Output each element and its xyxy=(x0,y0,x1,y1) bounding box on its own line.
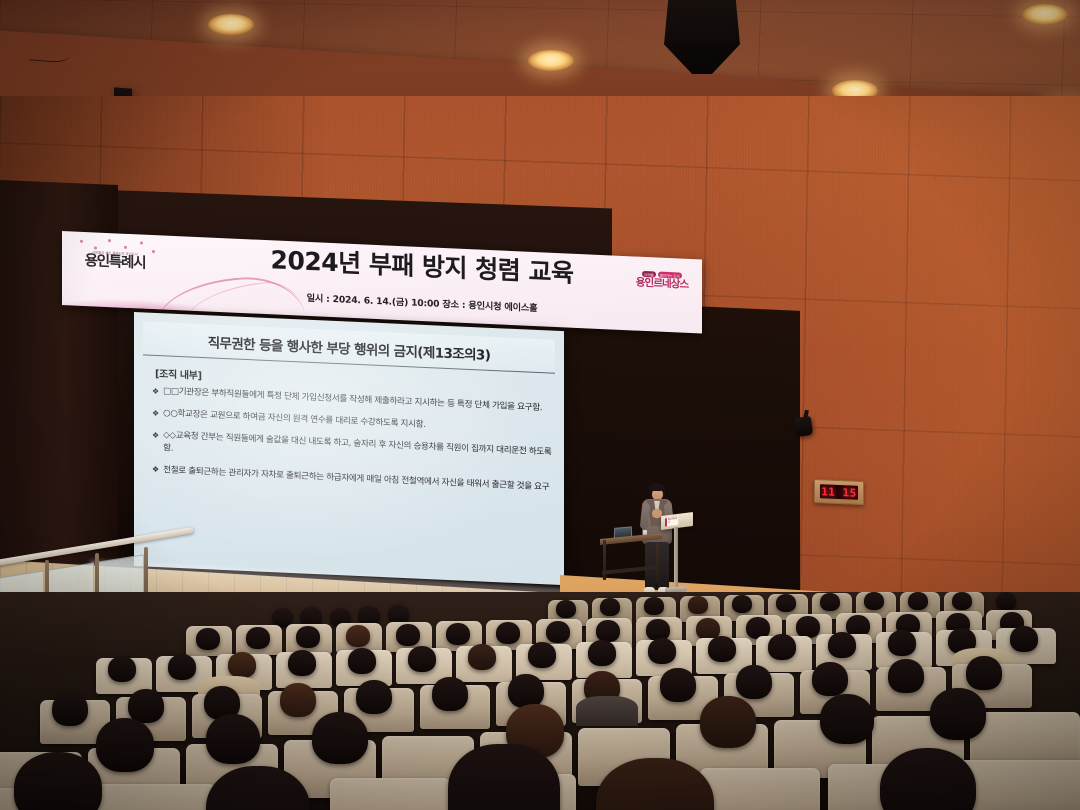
attendee-head xyxy=(396,624,420,646)
slide-bullet-text: ○○학교장은 교원으로 하여금 자신의 원격 연수를 대리로 수강하도록 지시함… xyxy=(163,407,425,431)
attendee-shoulders xyxy=(576,696,638,726)
attendee-head xyxy=(820,694,874,744)
attendee-head xyxy=(688,596,708,614)
attendee-head xyxy=(528,642,556,668)
attendee-head xyxy=(648,638,676,664)
projection-slide: 직무권한 등을 행사한 부당 행위의 금지(제13조의3) [조직 내부] ❖ … xyxy=(134,312,564,585)
attendee-head xyxy=(812,662,848,696)
attendee-head xyxy=(828,632,856,658)
city-logo-left: 사람들의 용인 특례시민 중심도시 용인특례시 xyxy=(72,247,158,271)
attendee-head xyxy=(952,592,972,610)
attendee-head xyxy=(796,616,820,638)
presenter-table xyxy=(600,528,662,586)
attendee-head xyxy=(588,640,616,666)
audience-area xyxy=(0,592,1080,810)
attendee-head xyxy=(888,630,916,656)
table-leg xyxy=(656,543,659,583)
attendee-head xyxy=(508,674,544,708)
attendee-head xyxy=(206,714,260,764)
attendee-head xyxy=(296,626,320,648)
attendee-head xyxy=(346,625,370,647)
spotlight-icon xyxy=(794,416,813,437)
attendee-head xyxy=(644,597,664,615)
slide-bullet-text: ◇◇교육청 간부는 직원들에게 술값을 대신 내도록 하고, 술자리 후 자신의… xyxy=(163,429,552,471)
attendee-head xyxy=(546,621,570,643)
city-logo-left-text: 용인특례시 xyxy=(72,253,158,271)
attendee-head xyxy=(196,628,220,650)
attendee-head xyxy=(930,688,986,740)
attendee-head xyxy=(556,600,576,618)
wall-clock: 11 15 xyxy=(814,479,864,505)
seat xyxy=(700,768,820,810)
presenter-hair xyxy=(649,483,665,491)
attendee-head xyxy=(966,656,1002,690)
attendee-head xyxy=(108,656,136,682)
attendee-head xyxy=(280,683,316,717)
city-logo-right: 미래를 열어가는 도시 용인르네상스 xyxy=(628,270,696,291)
city-logo-right-text: 용인르네상스 xyxy=(628,277,696,291)
bullet-marker-icon: ❖ xyxy=(152,463,159,476)
attendee-head xyxy=(600,598,620,616)
podium-stem xyxy=(674,527,678,589)
attendee-head xyxy=(908,592,928,610)
attendee-head xyxy=(1010,626,1038,652)
attendee-head xyxy=(168,654,196,680)
seat xyxy=(330,778,450,810)
attendee-head xyxy=(820,593,840,611)
attendee-head xyxy=(408,646,436,672)
ceiling-downlight-icon xyxy=(208,14,254,35)
auditorium-photo: 사람들의 용인 특례시민 중심도시 용인특례시 2024년 부패 방지 청렴 교… xyxy=(0,0,1080,810)
ceiling-downlight-icon xyxy=(1022,4,1068,25)
attendee-head xyxy=(246,627,270,649)
attendee-head xyxy=(468,644,496,670)
bullet-marker-icon: ❖ xyxy=(152,407,159,420)
seat xyxy=(96,784,216,810)
bullet-marker-icon: ❖ xyxy=(152,429,159,454)
podium-sign: 용인특례시 xyxy=(665,517,678,527)
attendee-head xyxy=(348,648,376,674)
attendee-head xyxy=(496,622,520,644)
slide-section-label: [조직 내부] xyxy=(155,365,202,382)
attendee-head xyxy=(864,592,884,610)
clock-time: 11 15 xyxy=(821,486,857,498)
attendee-head xyxy=(596,620,620,642)
attendee-head xyxy=(312,712,368,764)
attendee-head xyxy=(660,668,696,702)
table-shelf xyxy=(602,565,658,574)
ceiling-downlight-icon xyxy=(528,50,574,71)
attendee-head xyxy=(732,595,752,613)
attendee-head xyxy=(736,665,772,699)
slide-title-box: 직무권한 등을 행사한 부당 행위의 금지(제13조의3) xyxy=(143,321,555,373)
attendee-head xyxy=(288,650,316,676)
attendee-head xyxy=(52,692,88,726)
attendee-head xyxy=(776,594,796,612)
clock-display: 11 15 xyxy=(820,484,858,500)
attendee-head xyxy=(96,718,154,772)
bullet-marker-icon: ❖ xyxy=(152,385,159,398)
podium: 용인특례시 xyxy=(661,514,693,596)
attendee-head xyxy=(446,623,470,645)
attendee-head xyxy=(768,634,796,660)
attendee-head xyxy=(432,677,468,711)
attendee-head xyxy=(888,659,924,693)
attendee-head xyxy=(356,680,392,714)
attendee-head xyxy=(996,592,1016,610)
attendee-head xyxy=(228,652,256,678)
slide-bullet-list: ❖ □□기관장은 부하직원들에게 특정 단체 가입신청서를 작성해 제출하라고 … xyxy=(152,385,552,504)
attendee-head xyxy=(708,636,736,662)
slide-title: 직무권한 등을 행사한 부당 행위의 금지(제13조의3) xyxy=(208,331,491,364)
attendee-head xyxy=(700,696,756,748)
